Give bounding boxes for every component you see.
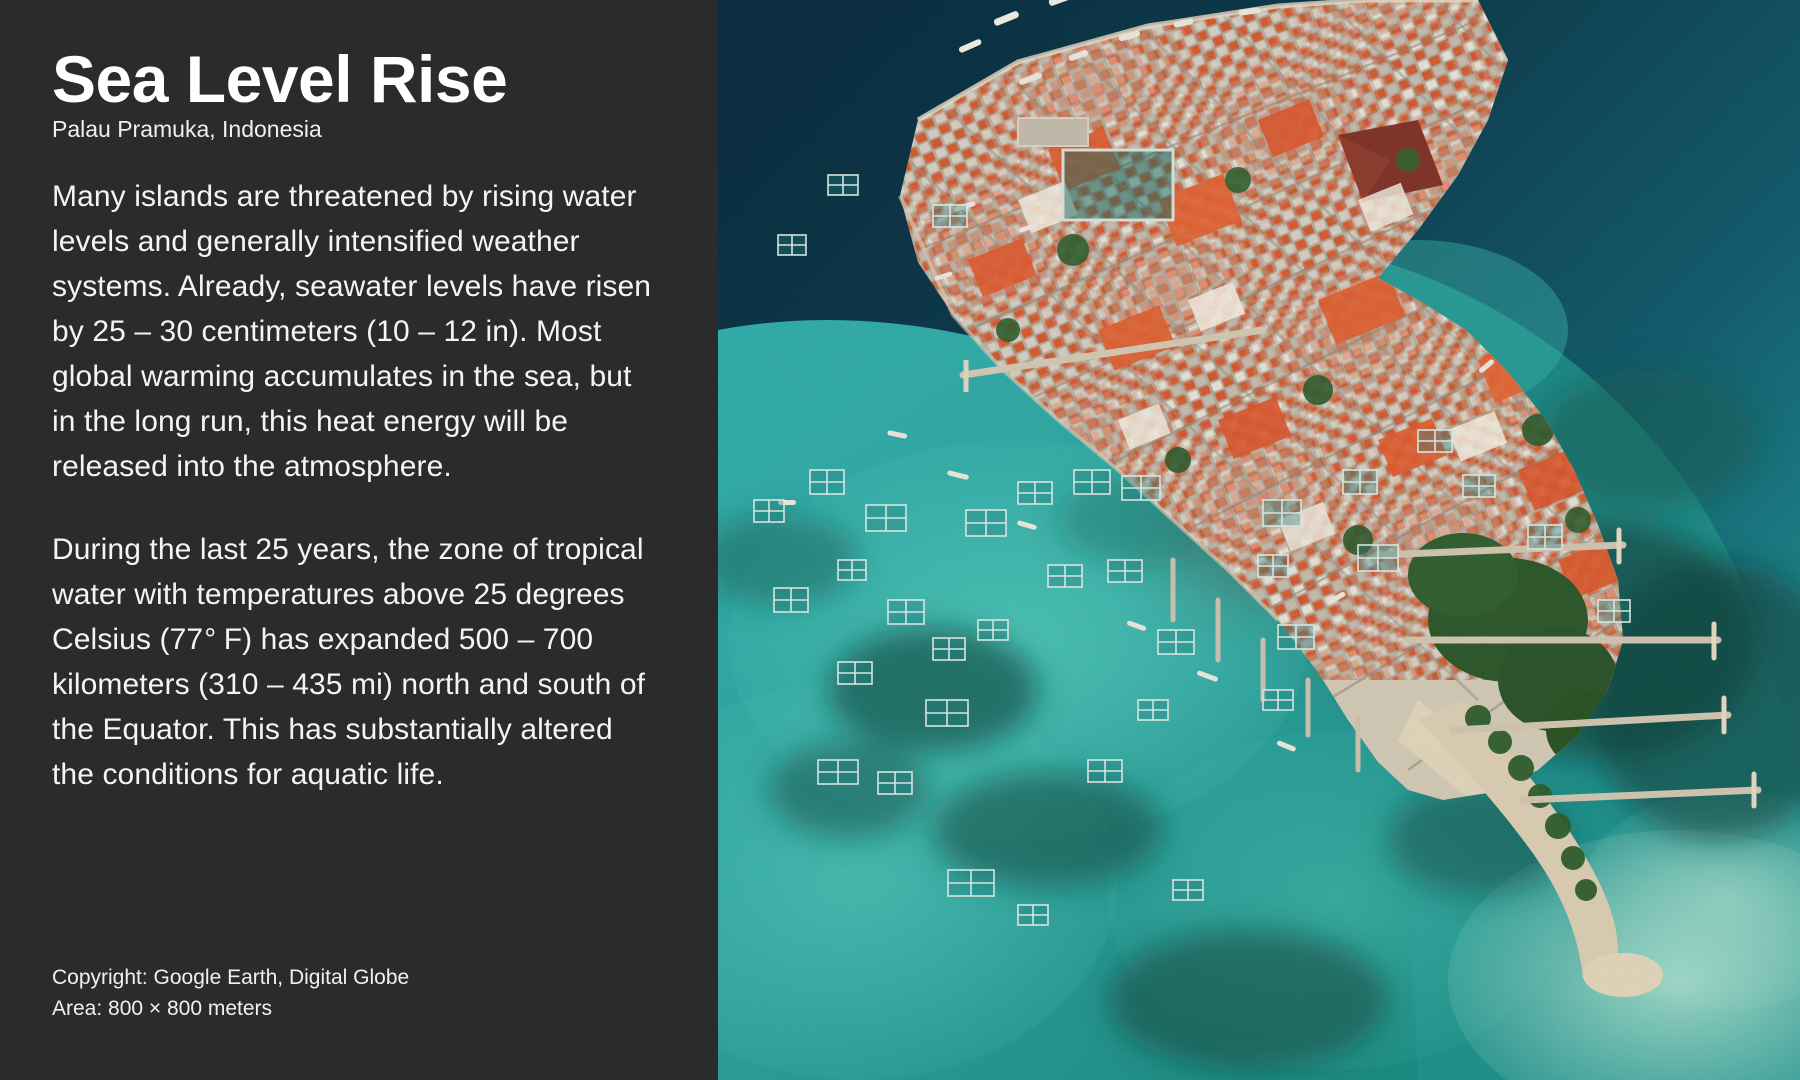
body-paragraph-1: Many islands are threatened by rising wa… [52, 174, 652, 489]
body-paragraph-2: During the last 25 years, the zone of tr… [52, 527, 652, 797]
page-subtitle: Palau Pramuka, Indonesia [52, 116, 674, 144]
satellite-photo-graphic [718, 0, 1800, 1080]
degree-symbol: ° [203, 623, 215, 656]
area-line: Area: 800 × 800 meters [52, 993, 409, 1024]
footer-credits: Copyright: Google Earth, Digital Globe A… [52, 962, 409, 1024]
infographic-page: Sea Level Rise Palau Pramuka, Indonesia … [0, 0, 1800, 1080]
text-panel: Sea Level Rise Palau Pramuka, Indonesia … [0, 0, 718, 1080]
copyright-line: Copyright: Google Earth, Digital Globe [52, 962, 409, 993]
satellite-photo [718, 0, 1800, 1080]
page-title: Sea Level Rise [52, 46, 674, 112]
photo-grain-overlay-dark [718, 0, 1800, 1080]
